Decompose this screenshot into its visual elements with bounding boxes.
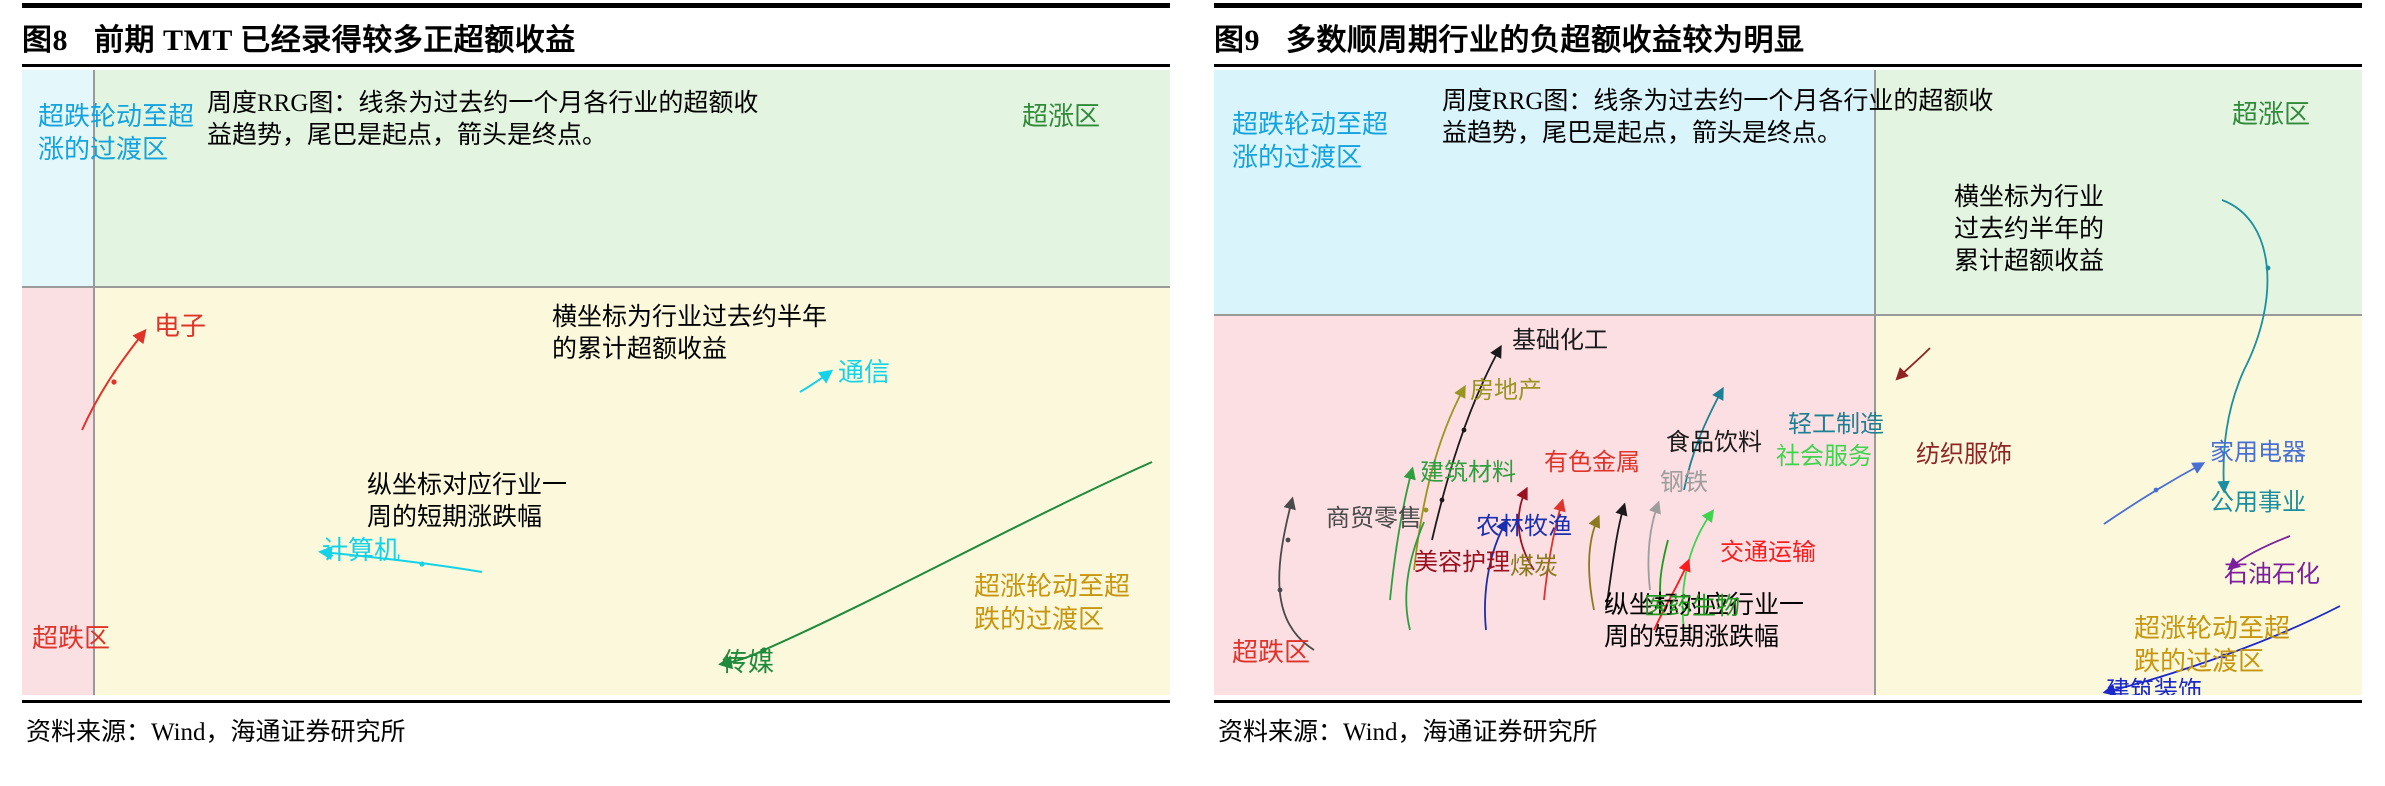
industry-label-shehuifuwu: 社会服务 bbox=[1776, 442, 1872, 473]
zone-label-bottom-right-right: 超涨轮动至超 跌的过渡区 bbox=[2134, 612, 2290, 679]
industry-label-fangzhifushi: 纺织服饰 bbox=[1916, 440, 2012, 471]
industry-label-fangdichan: 房地产 bbox=[1470, 376, 1542, 407]
industry-label-jisuanji: 计算机 bbox=[322, 534, 400, 567]
note-rrg-left: 周度RRG图：线条为过去约一个月各行业的超额收 益趋势，尾巴是起点，箭头是终点。 bbox=[207, 88, 758, 152]
figure-8-number: 图8 bbox=[22, 15, 68, 59]
page-root: 图8 前期 TMT 已经录得较多正超额收益 bbox=[0, 0, 2385, 786]
figure-9-title-text: 多数顺周期行业的负超额收益较为明显 bbox=[1286, 15, 1805, 59]
rule-mid-right bbox=[1214, 64, 2362, 67]
industry-label-shangmaolingshou: 商贸零售 bbox=[1326, 504, 1422, 535]
note-xaxis-left: 横坐标为行业过去约半年 的累计超额收益 bbox=[552, 302, 827, 366]
industry-label-qinggongzhizao: 轻工制造 bbox=[1788, 410, 1884, 441]
industry-label-jianzhucailiao: 建筑材料 bbox=[1420, 458, 1516, 489]
figure-8-title: 图8 前期 TMT 已经录得较多正超额收益 bbox=[22, 8, 1172, 66]
rule-bottom-left bbox=[22, 700, 1170, 703]
industry-label-jiayongdianqi: 家用电器 bbox=[2210, 438, 2306, 469]
industry-label-yousejinshu: 有色金属 bbox=[1544, 448, 1640, 479]
figure-9-chart: 周度RRG图：线条为过去约一个月各行业的超额收 益趋势，尾巴是起点，箭头是终点。… bbox=[1214, 70, 2362, 695]
zone-label-top-right-right: 超涨区 bbox=[2232, 98, 2310, 131]
industry-label-meironghuli: 美容护理 bbox=[1414, 548, 1510, 579]
zone-label-top-left-right: 超跌轮动至超 涨的过渡区 bbox=[1232, 108, 1388, 175]
note-xaxis-right: 横坐标为行业 过去约半年的 累计超额收益 bbox=[1954, 182, 2104, 278]
industry-label-yiyaoshengwu: 医药生物 bbox=[1644, 592, 1740, 623]
industry-label-jichuhuagong: 基础化工 bbox=[1512, 326, 1608, 357]
industry-label-shipinyinliao: 食品饮料 bbox=[1666, 428, 1762, 459]
zone-label-top-right-left: 超涨区 bbox=[1022, 100, 1100, 133]
industry-label-meitan: 煤炭 bbox=[1510, 552, 1558, 583]
figure-9-panel: 图9 多数顺周期行业的负超额收益较为明显 bbox=[1192, 0, 2384, 786]
industry-label-dianzi: 电子 bbox=[154, 310, 206, 343]
source-right: 资料来源：Wind，海通证券研究所 bbox=[1218, 712, 1598, 748]
note-rrg-right: 周度RRG图：线条为过去约一个月各行业的超额收 益趋势，尾巴是起点，箭头是终点。 bbox=[1442, 86, 1993, 150]
source-left: 资料来源：Wind，海通证券研究所 bbox=[26, 712, 406, 748]
industry-label-shiyoushihua: 石油石化 bbox=[2224, 560, 2320, 591]
figure-9-title: 图9 多数顺周期行业的负超额收益较为明显 bbox=[1214, 8, 2364, 66]
zone-label-bottom-left-left: 超跌区 bbox=[32, 622, 110, 655]
rule-mid-left bbox=[22, 64, 1170, 67]
industry-label-tongxin: 通信 bbox=[838, 356, 890, 389]
industry-label-nonglinmuyu: 农林牧渔 bbox=[1476, 512, 1572, 543]
figure-8-chart: 周度RRG图：线条为过去约一个月各行业的超额收 益趋势，尾巴是起点，箭头是终点。… bbox=[22, 70, 1170, 695]
figure-8-title-text: 前期 TMT 已经录得较多正超额收益 bbox=[94, 15, 576, 59]
note-yaxis-left: 纵坐标对应行业一 周的短期涨跌幅 bbox=[367, 470, 567, 534]
zone-label-bottom-left-right: 超跌区 bbox=[1232, 636, 1310, 669]
zone-label-top-left-left: 超跌轮动至超 涨的过渡区 bbox=[38, 100, 194, 167]
industry-label-gangtie: 钢铁 bbox=[1660, 468, 1708, 499]
industry-label-gongyongshiye: 公用事业 bbox=[2210, 488, 2306, 519]
industry-label-jiaotongyunshu: 交通运输 bbox=[1720, 538, 1816, 569]
figure-8-panel: 图8 前期 TMT 已经录得较多正超额收益 bbox=[0, 0, 1192, 786]
figure-9-number: 图9 bbox=[1214, 15, 1260, 59]
rule-bottom-right bbox=[1214, 700, 2362, 703]
industry-label-jianzhuzhuangshi: 建筑装饰 bbox=[2106, 676, 2202, 695]
zone-label-bottom-right-left: 超涨轮动至超 跌的过渡区 bbox=[974, 570, 1130, 637]
industry-label-chuanmei: 传媒 bbox=[722, 646, 774, 679]
